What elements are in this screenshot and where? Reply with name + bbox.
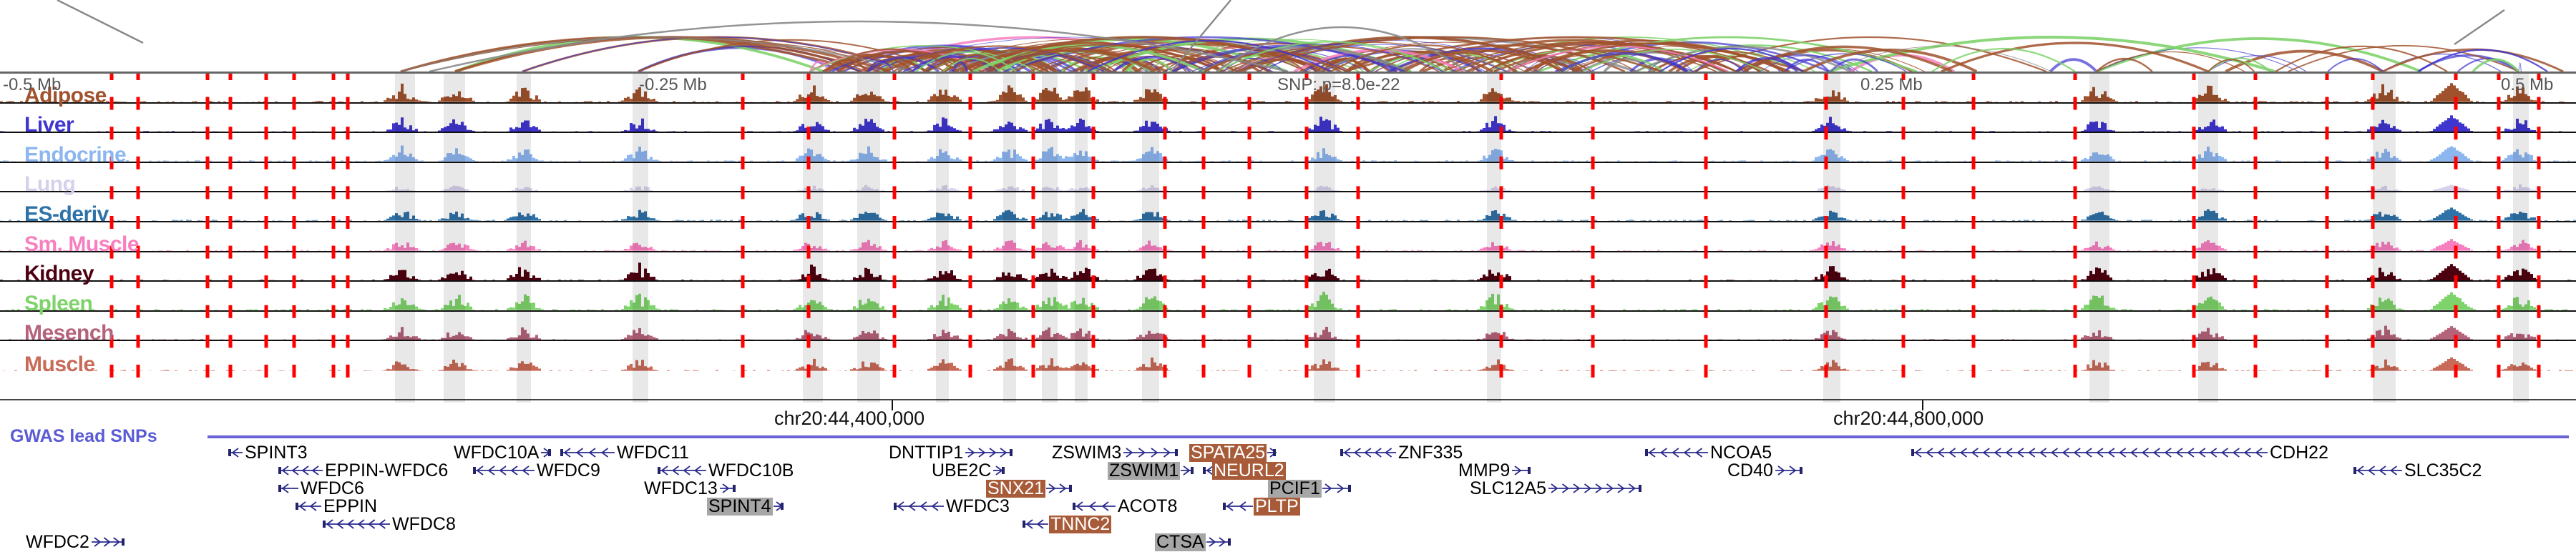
- gene-neurl2[interactable]: NEURL2: [1202, 461, 1286, 480]
- gene-spint3[interactable]: SPINT3: [228, 443, 309, 462]
- gene-strand-arrows: [893, 499, 945, 513]
- gene-wfdc6[interactable]: WFDC6: [278, 479, 366, 498]
- gene-znf335[interactable]: ZNF335: [1340, 443, 1464, 462]
- gene-strand-arrows: [91, 535, 125, 549]
- gene-label: PCIF1: [1268, 480, 1322, 498]
- gene-label: CDH22: [2268, 444, 2330, 462]
- signal-histogram: [0, 162, 2576, 192]
- gene-label: TNNC2: [1049, 516, 1111, 533]
- gene-strand-arrows: [1206, 535, 1231, 549]
- gene-pcif1[interactable]: PCIF1: [1268, 479, 1352, 498]
- gene-strand-arrows: [278, 481, 299, 496]
- gene-label: SPINT3: [243, 444, 309, 462]
- gene-pltp[interactable]: PLTP: [1222, 497, 1300, 516]
- gene-wfdc3[interactable]: WFDC3: [893, 497, 1011, 516]
- snp-annotation: SNP: p=8.0e-22: [1277, 75, 1400, 95]
- gene-label: WFDC6: [299, 480, 366, 498]
- gene-strand-arrows: [1267, 445, 1277, 460]
- gene-label: SNX21: [986, 480, 1045, 498]
- gene-mmp9[interactable]: MMP9: [1457, 461, 1531, 480]
- gene-strand-arrows: [2353, 463, 2403, 478]
- gene-label: ZSWIM1: [1108, 462, 1180, 480]
- gene-label: WFDC8: [391, 516, 457, 533]
- gene-label: UBE2C: [930, 462, 992, 480]
- track-label-lung: Lung: [24, 174, 75, 195]
- gene-snx21[interactable]: SNX21: [986, 479, 1073, 498]
- gene-label: EPPIN-WFDC6: [323, 462, 449, 480]
- gene-strand-arrows: [1202, 463, 1212, 478]
- gene-strand-arrows: [1072, 499, 1116, 513]
- gene-strand-arrows: [1775, 463, 1803, 478]
- gwas-lead-snps-line: [208, 435, 2569, 438]
- interaction-arcs: [0, 0, 2576, 72]
- gene-label: WFDC10A: [452, 444, 540, 462]
- signal-histogram: [0, 341, 2576, 371]
- signal-track-endocrine[interactable]: Endocrine: [0, 133, 2576, 163]
- gene-label: WFDC11: [615, 444, 691, 462]
- signal-histogram: [0, 251, 2576, 281]
- gene-strand-arrows: [540, 445, 552, 460]
- gene-label: PLTP: [1254, 498, 1300, 516]
- signal-histogram: [0, 221, 2576, 251]
- gene-wfdc11[interactable]: WFDC11: [560, 443, 691, 462]
- coord-label-left: chr20:44,400,000: [774, 408, 924, 430]
- signal-histogram: [0, 191, 2576, 221]
- gene-label: NEURL2: [1212, 462, 1286, 480]
- track-label-muscle: Muscle: [24, 354, 95, 375]
- gene-strand-arrows: [322, 517, 391, 531]
- gene-strand-arrows: [472, 463, 535, 478]
- gene-wfdc10a[interactable]: WFDC10A: [452, 443, 552, 462]
- track-label-mesench: Mesench: [24, 322, 114, 344]
- gene-label: SLC12A5: [1468, 480, 1548, 498]
- gene-label: SPINT4: [707, 498, 773, 516]
- signal-histogram: [0, 102, 2576, 132]
- gene-slc35c2[interactable]: SLC35C2: [2353, 461, 2483, 480]
- gene-annotation-track: SPINT3EPPIN-WFDC6WFDC6EPPINWFDC8WFDC2WFD…: [0, 443, 2576, 536]
- gene-strand-arrows: [773, 499, 784, 513]
- gene-label: NCOA5: [1709, 444, 1773, 462]
- signal-track-spleen[interactable]: Spleen: [0, 282, 2576, 312]
- gene-ube2c[interactable]: UBE2C: [930, 461, 1005, 480]
- gene-zswim1[interactable]: ZSWIM1: [1108, 461, 1194, 480]
- track-label-endocrine: Endocrine: [24, 144, 126, 166]
- gene-strand-arrows: [228, 445, 243, 460]
- gene-label: CD40: [1726, 462, 1775, 480]
- signal-tracks-panel: AdiposeLiverEndocrineLungES-derivSm. Mus…: [0, 72, 2576, 400]
- gene-label: WFDC9: [535, 462, 602, 480]
- gene-strand-arrows: [657, 463, 707, 478]
- gene-label: ZSWIM3: [1050, 444, 1123, 462]
- gene-label: DNTTIP1: [887, 444, 965, 462]
- gene-wfdc8[interactable]: WFDC8: [322, 515, 457, 533]
- track-label-kidney: Kidney: [24, 263, 94, 285]
- gene-strand-arrows: [560, 445, 615, 460]
- ruler-tick-midright: 0.25 Mb: [1860, 75, 1923, 95]
- gene-spata25[interactable]: SPATA25: [1189, 443, 1277, 462]
- gene-strand-arrows: [719, 481, 736, 496]
- track-label-es-deriv: ES-deriv: [24, 204, 109, 225]
- gene-eppin-wfdc6[interactable]: EPPIN-WFDC6: [278, 461, 449, 480]
- gene-label: SLC35C2: [2403, 462, 2483, 480]
- signal-track-es-deriv[interactable]: ES-deriv: [0, 192, 2576, 222]
- track-label-sm-muscle: Sm. Muscle: [24, 234, 139, 255]
- ruler-tick-right: 0.5 Mb: [2501, 75, 2553, 95]
- gene-spint4[interactable]: SPINT4: [707, 497, 784, 516]
- gene-label: ZNF335: [1397, 444, 1464, 462]
- gene-eppin[interactable]: EPPIN: [295, 497, 379, 516]
- ruler-tick-midleft: -0.25 Mb: [639, 75, 707, 95]
- gene-label: ACOT8: [1116, 498, 1179, 516]
- signal-histogram: [0, 280, 2576, 310]
- signal-track-sm-muscle[interactable]: Sm. Muscle: [0, 222, 2576, 252]
- signal-track-liver[interactable]: Liver: [0, 104, 2576, 134]
- gene-strand-arrows: [965, 445, 1013, 460]
- genome-browser: AdiposeLiverEndocrineLungES-derivSm. Mus…: [0, 0, 2576, 536]
- gene-wfdc13[interactable]: WFDC13: [643, 479, 736, 498]
- gene-strand-arrows: [295, 499, 322, 513]
- gene-cdh22[interactable]: CDH22: [1911, 443, 2330, 462]
- gene-tnnc2[interactable]: TNNC2: [1022, 515, 1111, 533]
- signal-track-kidney[interactable]: Kidney: [0, 252, 2576, 282]
- gene-zswim3[interactable]: ZSWIM3: [1050, 443, 1179, 462]
- gene-strand-arrows: [278, 463, 323, 478]
- arc-leader-line: [57, 0, 143, 43]
- gene-label: SPATA25: [1189, 444, 1267, 462]
- coordinate-axis: chr20:44,400,000 chr20:44,800,000: [0, 400, 2576, 430]
- gene-strand-arrows: [1222, 499, 1254, 513]
- gene-strand-arrows: [1511, 463, 1531, 478]
- signal-track-mesench[interactable]: Mesench: [0, 312, 2576, 342]
- gene-wfdc10b[interactable]: WFDC10B: [657, 461, 795, 480]
- signal-histogram: [0, 132, 2576, 162]
- chromatin-interaction-arc: [2519, 63, 2521, 72]
- gene-label: MMP9: [1457, 462, 1511, 480]
- gene-cd40[interactable]: CD40: [1726, 461, 1803, 480]
- gene-wfdc9[interactable]: WFDC9: [472, 461, 602, 480]
- track-label-spleen: Spleen: [24, 293, 92, 315]
- gene-ncoa5[interactable]: NCOA5: [1644, 443, 1773, 462]
- gene-strand-arrows: [1911, 445, 2268, 460]
- gene-wfdc2[interactable]: WFDC2: [24, 533, 125, 551]
- gene-strand-arrows: [1045, 481, 1073, 496]
- signal-track-muscle[interactable]: Muscle: [0, 341, 2576, 371]
- coord-label-right: chr20:44,800,000: [1833, 408, 1984, 430]
- gene-dnttip1[interactable]: DNTTIP1: [887, 443, 1013, 462]
- gene-label: WFDC10B: [707, 462, 795, 480]
- gene-strand-arrows: [1123, 445, 1179, 460]
- gene-strand-arrows: [1322, 481, 1352, 496]
- gene-strand-arrows: [992, 463, 1005, 478]
- arc-leader-line: [2454, 10, 2504, 44]
- gene-label: WFDC13: [643, 480, 719, 498]
- ruler-tick-left: -0.5 Mb: [3, 75, 61, 95]
- gene-strand-arrows: [1022, 517, 1049, 531]
- gene-strand-arrows: [1644, 445, 1709, 460]
- gene-label: WFDC3: [945, 498, 1011, 516]
- gene-strand-arrows: [1340, 445, 1397, 460]
- gene-acot8[interactable]: ACOT8: [1072, 497, 1179, 516]
- signal-track-lung[interactable]: Lung: [0, 163, 2576, 193]
- track-label-liver: Liver: [24, 114, 74, 136]
- gene-strand-arrows: [1180, 463, 1194, 478]
- signal-histogram: [0, 310, 2576, 340]
- gene-ctsa[interactable]: CTSA: [1155, 533, 1231, 551]
- gene-label: CTSA: [1155, 533, 1206, 551]
- gene-slc12a5[interactable]: SLC12A5: [1468, 479, 1642, 498]
- gene-label: WFDC2: [24, 533, 91, 551]
- gene-strand-arrows: [1548, 481, 1642, 496]
- gene-label: EPPIN: [322, 498, 379, 516]
